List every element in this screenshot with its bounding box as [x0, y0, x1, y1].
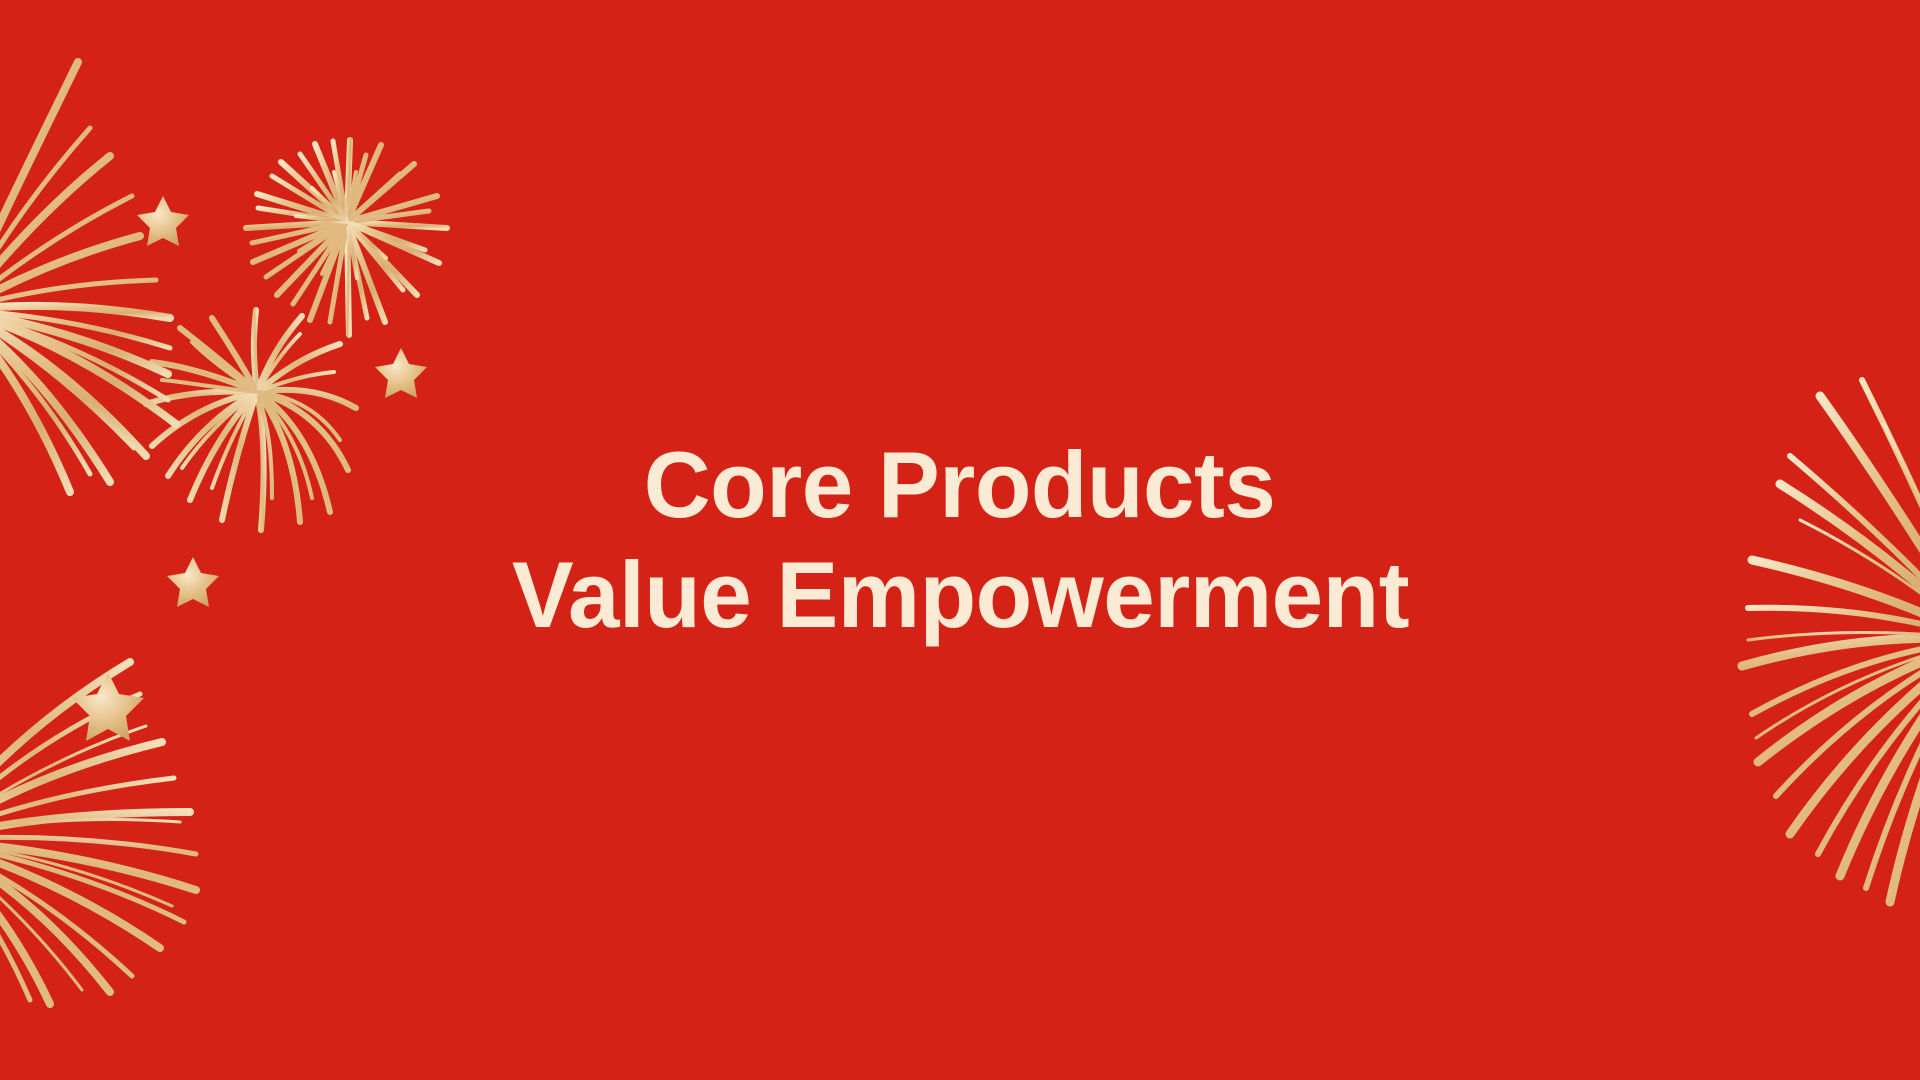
headline-line-1: Core Products — [644, 430, 1276, 540]
headline-block: Core Products Value Empowerment — [0, 0, 1920, 1080]
headline-line-2: Value Empowerment — [511, 540, 1408, 650]
slide-canvas: Core Products Value Empowerment — [0, 0, 1920, 1080]
